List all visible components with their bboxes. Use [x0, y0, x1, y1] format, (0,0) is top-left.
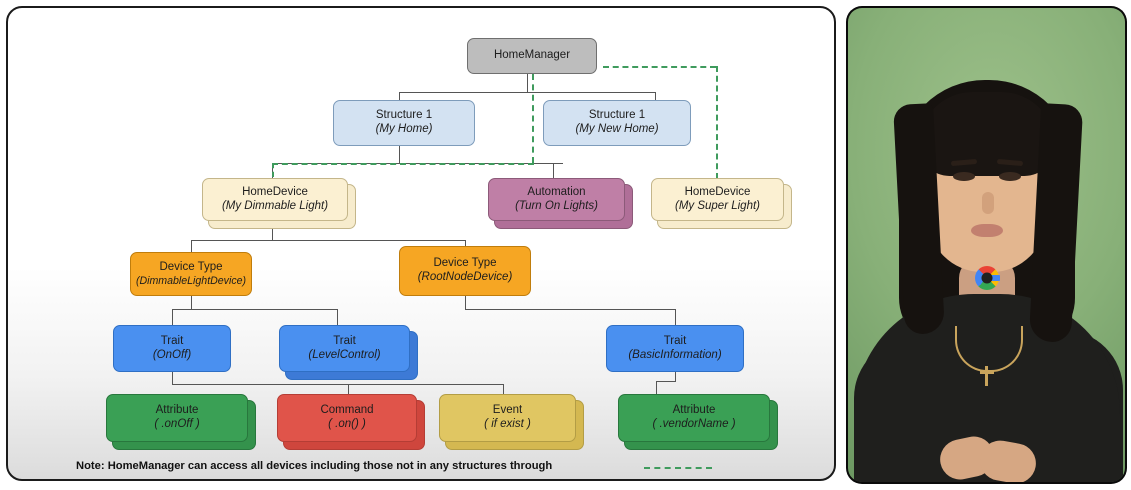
node-event-ifexist-line1: Event [493, 404, 522, 418]
node-automation-line1: Automation [527, 186, 585, 200]
connector-hm-down [527, 74, 528, 92]
connector-dt2-to-basic [675, 309, 676, 325]
node-structure-my-home[interactable]: Structure 1 (My Home) [333, 100, 475, 146]
node-attribute-vendorname-line2: ( .vendorName ) [652, 418, 735, 432]
presenter-necklace-cross-horizontal [980, 371, 994, 374]
connector-onoff-down [172, 372, 173, 384]
connector-hm-bus [399, 92, 656, 93]
node-trait-onoff[interactable]: Trait (OnOff) [113, 325, 231, 372]
connector-s1-to-automation [553, 163, 554, 179]
node-homedevice-dimmable-line1: HomeDevice [242, 186, 308, 200]
diagram-panel: HomeManager Structure 1 (My Home) Struct… [6, 6, 836, 481]
connector-dt1-bus [172, 309, 337, 310]
connector-s1-down [399, 145, 400, 163]
presenter-eye-right [999, 172, 1021, 181]
node-structure-my-home-line1: Structure 1 [376, 109, 432, 123]
node-devicetype-rootnode-line2: (RootNodeDevice) [418, 271, 513, 285]
connector-to-event [503, 384, 504, 394]
presenter-hair-top [919, 92, 1055, 176]
node-event-ifexist-line2: ( if exist ) [484, 418, 531, 432]
node-homemanager[interactable]: HomeManager [467, 38, 597, 74]
connector-basic-down [675, 372, 676, 381]
connector-basic-to-attr [656, 381, 657, 394]
connector-hd-to-dt1 [191, 240, 192, 252]
connector-dt1-down [191, 296, 192, 309]
node-structure-my-new-home-line2: (My New Home) [575, 123, 658, 137]
node-devicetype-dimmable[interactable]: Device Type (DimmableLightDevice) [130, 252, 252, 296]
node-trait-levelcontrol-line1: Trait [333, 335, 356, 349]
dashed-homedevice-stub [272, 163, 274, 177]
presenter-eye-left [953, 172, 975, 181]
dashed-to-homedevice [272, 163, 534, 165]
connector-dt1-to-level [337, 309, 338, 325]
presenter-necklace-cross-vertical [985, 366, 988, 386]
node-homedevice-super[interactable]: HomeDevice (My Super Light) [651, 178, 784, 221]
connector-dt2-down [465, 296, 466, 309]
node-trait-levelcontrol-line2: (LevelControl) [308, 349, 380, 363]
node-event-ifexist[interactable]: Event ( if exist ) [439, 394, 576, 442]
connector-dt1-to-onoff [172, 309, 173, 325]
node-trait-basicinformation-line1: Trait [664, 335, 687, 349]
node-homedevice-super-line1: HomeDevice [685, 186, 751, 200]
node-structure-my-home-line2: (My Home) [376, 123, 433, 137]
dashed-hm-right [603, 66, 716, 68]
node-attribute-vendorname-line1: Attribute [673, 404, 716, 418]
node-devicetype-rootnode-line1: Device Type [433, 257, 496, 271]
connector-trait-bus [172, 384, 503, 385]
node-attribute-onoff-line1: Attribute [156, 404, 199, 418]
node-trait-basicinformation[interactable]: Trait (BasicInformation) [606, 325, 744, 372]
presenter-nose [982, 192, 994, 214]
node-trait-onoff-line2: (OnOff) [153, 349, 191, 363]
node-automation[interactable]: Automation (Turn On Lights) [488, 178, 625, 221]
node-automation-line2: (Turn On Lights) [515, 200, 598, 214]
dashed-hm-down [532, 74, 534, 163]
connector-hd-bus [191, 240, 465, 241]
node-trait-levelcontrol[interactable]: Trait (LevelControl) [279, 325, 410, 372]
connector-to-command [348, 384, 349, 394]
node-trait-onoff-line1: Trait [161, 335, 184, 349]
node-homedevice-dimmable[interactable]: HomeDevice (My Dimmable Light) [202, 178, 348, 221]
diagram-note: Note: HomeManager can access all devices… [76, 460, 552, 472]
presenter-video-panel[interactable] [848, 8, 1125, 482]
node-devicetype-dimmable-line1: Device Type [159, 261, 222, 275]
node-attribute-onoff-line2: ( .onOff ) [154, 418, 199, 432]
presenter-mouth [971, 224, 1003, 237]
node-command-on-line2: ( .on() ) [328, 418, 366, 432]
node-homemanager-line1: HomeManager [494, 49, 570, 63]
diagram-canvas: HomeManager Structure 1 (My Home) Struct… [8, 8, 834, 479]
screenshot-root: HomeManager Structure 1 (My Home) Struct… [0, 0, 1131, 490]
node-devicetype-rootnode[interactable]: Device Type (RootNodeDevice) [399, 246, 531, 296]
node-homedevice-super-line2: (My Super Light) [675, 200, 760, 214]
dashed-right-down [716, 66, 718, 179]
google-g-icon [975, 266, 999, 290]
node-command-on-line1: Command [320, 404, 373, 418]
node-homedevice-dimmable-line2: (My Dimmable Light) [222, 200, 328, 214]
connector-basic-elbow [656, 381, 676, 382]
node-attribute-onoff[interactable]: Attribute ( .onOff ) [106, 394, 248, 442]
node-attribute-vendorname[interactable]: Attribute ( .vendorName ) [618, 394, 770, 442]
node-command-on[interactable]: Command ( .on() ) [277, 394, 417, 442]
node-structure-my-new-home-line1: Structure 1 [589, 109, 645, 123]
node-trait-basicinformation-line2: (BasicInformation) [628, 349, 721, 363]
connector-dt2-bus [465, 309, 675, 310]
diagram-note-dashed-sample [644, 467, 712, 469]
node-structure-my-new-home[interactable]: Structure 1 (My New Home) [543, 100, 691, 146]
node-devicetype-dimmable-line2: (DimmableLightDevice) [136, 275, 246, 288]
